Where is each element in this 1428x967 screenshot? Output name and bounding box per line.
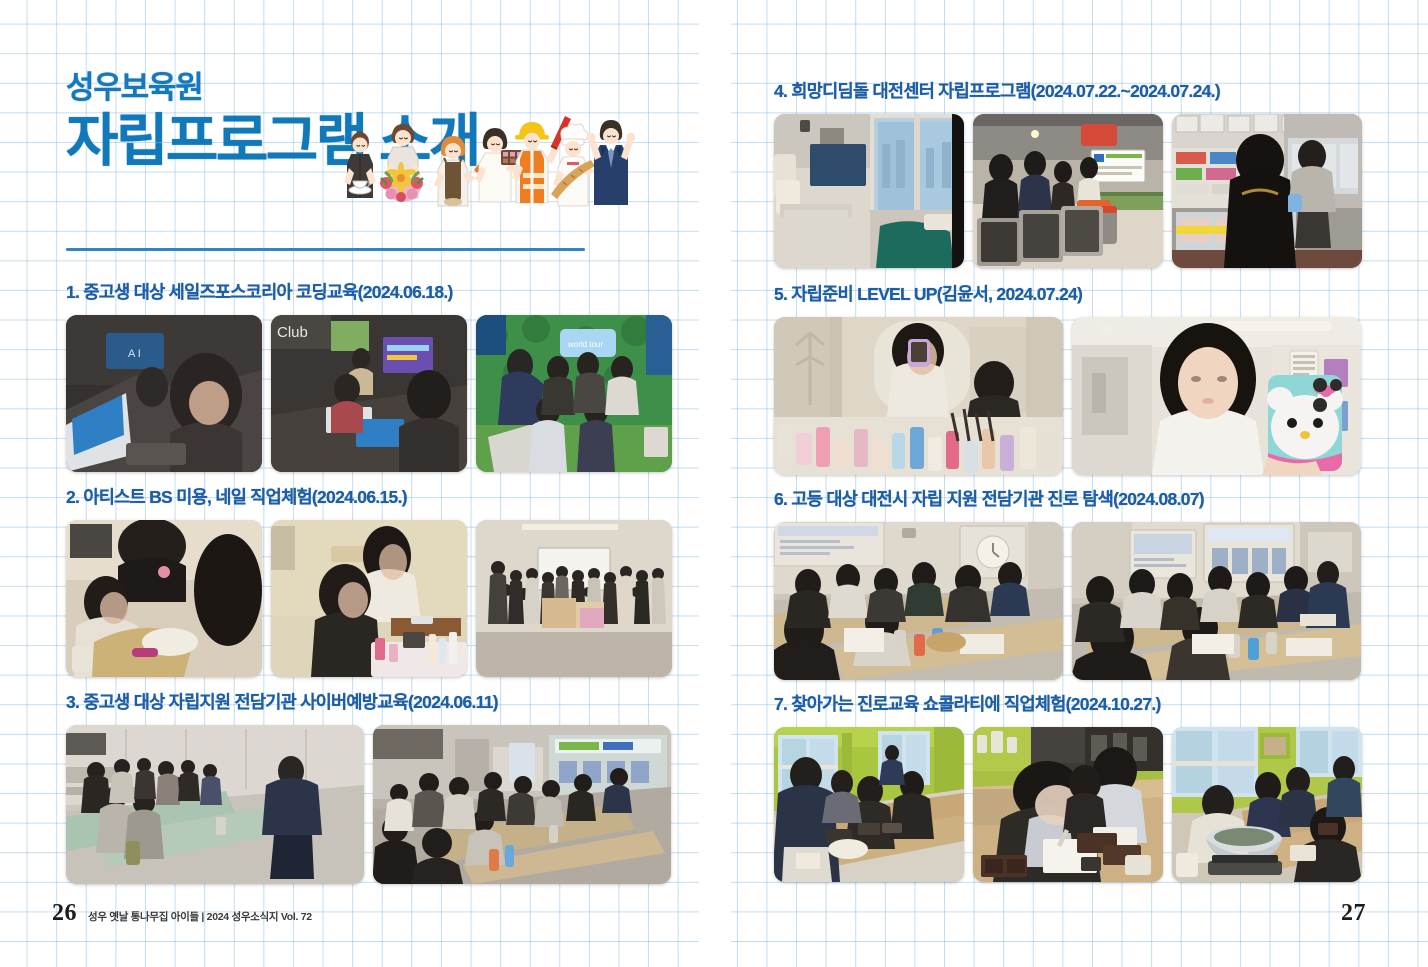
photo-nail-art-practice bbox=[66, 520, 262, 677]
photo-dormitory-room bbox=[774, 114, 964, 268]
svg-text:world tour: world tour bbox=[567, 340, 603, 349]
footer-right: 27 bbox=[1341, 900, 1366, 927]
section-3: 3. 중고생 대상 자립지원 전담기관 사이버예방교육(2024.06.11) bbox=[66, 694, 671, 884]
section-2-title: 2. 아티스트 BS 미용, 네일 직업체험(2024.06.15.) bbox=[66, 489, 672, 507]
section-4-title: 4. 희망디딤돌 대전센터 자립프로그램(2024.07.22.~2024.07… bbox=[774, 83, 1362, 101]
svg-text:Club: Club bbox=[277, 324, 308, 341]
section-6-title: 6. 고등 대상 대전시 자립 지원 전담기관 진로 탐색(2024.08.07… bbox=[774, 491, 1361, 509]
section-6-photos bbox=[774, 522, 1361, 680]
section-7-photos bbox=[774, 727, 1362, 882]
photo-career-class-left bbox=[774, 522, 1063, 680]
photo-lecture-room: Club bbox=[271, 315, 467, 472]
section-1-title: 1. 중고생 대상 세일즈포스코리아 코딩교육(2024.06.18.) bbox=[66, 284, 672, 302]
photo-chocolate-class-wide bbox=[774, 727, 964, 882]
photo-seminar-room-screen bbox=[373, 725, 671, 884]
career-workers-illustration: .sk{fill:#fbe3cf}.lin{fill:none;stroke:#… bbox=[335, 68, 635, 248]
section-1: 1. 중고생 대상 세일즈포스코리아 코딩교육(2024.06.18.) A I bbox=[66, 284, 672, 472]
photo-salon-mirror-selfie bbox=[774, 317, 1063, 475]
masthead: 성우보육원 자립프로그램 소개 .sk{fill:#fbe3cf}.lin{fi… bbox=[66, 72, 666, 262]
photo-group-photo-room bbox=[476, 520, 672, 677]
photo-career-class-right bbox=[1072, 522, 1361, 680]
photo-seminar-room-desks bbox=[66, 725, 364, 884]
svg-text:A I: A I bbox=[128, 348, 141, 360]
section-5-photos bbox=[774, 317, 1361, 475]
section-5-title: 5. 자립준비 LEVEL UP(김윤서, 2024.07.24) bbox=[774, 286, 1361, 304]
section-1-photos: A I Club bbox=[66, 315, 672, 472]
section-7: 7. 찾아가는 진로교육 쇼콜라티에 직업체험(2024.10.27.) bbox=[774, 696, 1362, 882]
photo-chocolate-melting bbox=[1172, 727, 1362, 882]
section-3-photos bbox=[66, 725, 671, 884]
section-5: 5. 자립준비 LEVEL UP(김윤서, 2024.07.24) bbox=[774, 286, 1361, 475]
photo-grocery-shopping bbox=[1172, 114, 1362, 268]
masthead-divider bbox=[66, 248, 585, 251]
photo-makeup-demo bbox=[271, 520, 467, 677]
photo-classroom-laptops: A I bbox=[66, 315, 262, 472]
page-number-right: 27 bbox=[1341, 900, 1366, 926]
footer-left: 26 성우 옛날 통나무집 아이들 | 2024 성우소식지 Vol. 72 bbox=[52, 900, 312, 927]
section-2: 2. 아티스트 BS 미용, 네일 직업체험(2024.06.15.) bbox=[66, 489, 672, 677]
photo-student-writing bbox=[973, 727, 1163, 882]
section-6: 6. 고등 대상 대전시 자립 지원 전담기관 진로 탐색(2024.08.07… bbox=[774, 491, 1361, 680]
photo-salon-portrait bbox=[1072, 317, 1361, 475]
page-number-left: 26 bbox=[52, 900, 77, 927]
photo-recycling-practice bbox=[973, 114, 1163, 268]
section-4: 4. 희망디딤돌 대전센터 자립프로그램(2024.07.22.~2024.07… bbox=[774, 83, 1362, 268]
section-4-photos bbox=[774, 114, 1362, 268]
section-2-photos bbox=[66, 520, 672, 677]
footer-publication-info: 성우 옛날 통나무집 아이들 | 2024 성우소식지 Vol. 72 bbox=[88, 909, 312, 924]
section-7-title: 7. 찾아가는 진로교육 쇼콜라티에 직업체험(2024.10.27.) bbox=[774, 696, 1362, 714]
photo-group-photo-greenwall: world tour bbox=[476, 315, 672, 472]
section-3-title: 3. 중고생 대상 자립지원 전담기관 사이버예방교육(2024.06.11) bbox=[66, 694, 671, 712]
newsletter-spread: 성우보육원 자립프로그램 소개 .sk{fill:#fbe3cf}.lin{fi… bbox=[0, 0, 1428, 967]
